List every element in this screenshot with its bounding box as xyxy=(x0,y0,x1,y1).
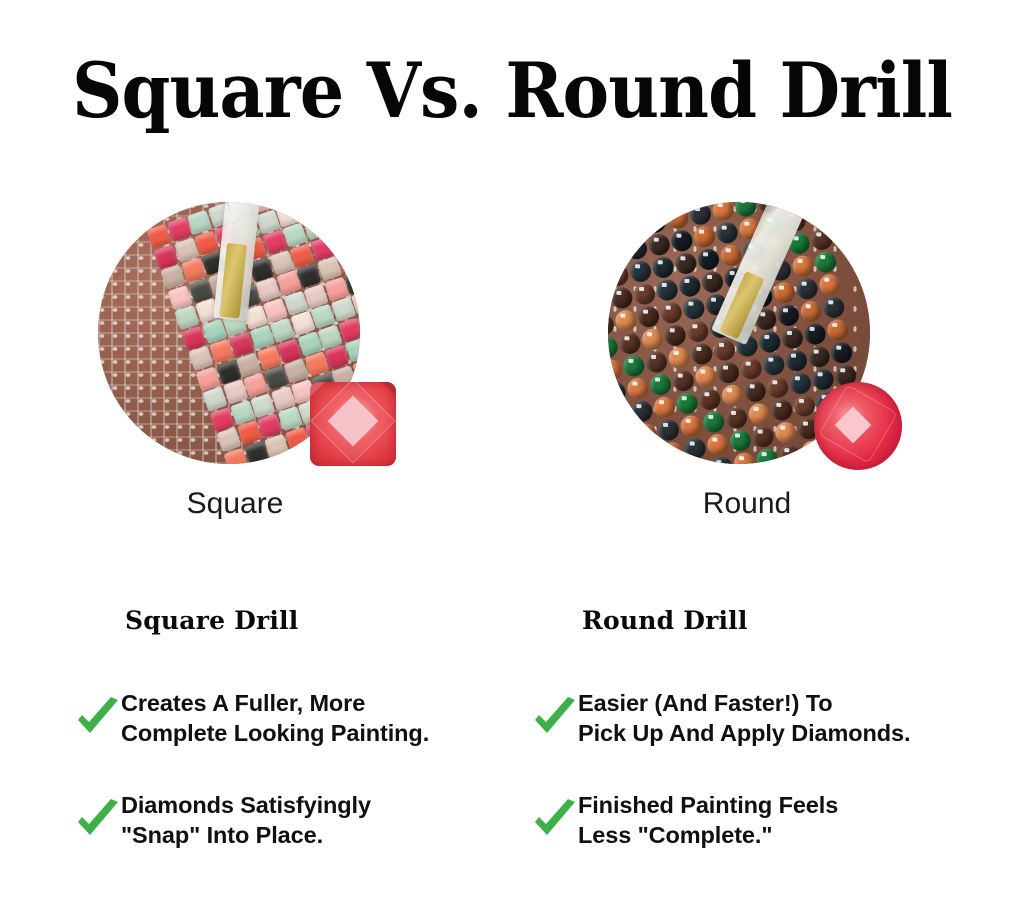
round-photo-panel xyxy=(608,200,908,470)
list-item: Easier (And Faster!) To Pick Up And Appl… xyxy=(532,688,962,748)
list-item: Diamonds Satisfyingly "Snap" Into Place. xyxy=(75,790,505,850)
list-item-label: Creates A Fuller, More Complete Looking … xyxy=(121,688,429,748)
comparison-images xyxy=(0,200,1024,470)
list-item-label: Finished Painting Feels Less "Complete." xyxy=(578,790,838,850)
round-drill-bullets: Easier (And Faster!) To Pick Up And Appl… xyxy=(532,688,962,850)
round-drill-heading: Round Drill xyxy=(532,606,962,636)
list-item-label: Easier (And Faster!) To Pick Up And Appl… xyxy=(578,688,910,748)
round-photo-caption: Round xyxy=(597,487,897,521)
pen-wax xyxy=(219,243,247,319)
square-drill-heading: Square Drill xyxy=(75,606,505,636)
check-icon xyxy=(75,797,121,843)
check-icon xyxy=(532,695,578,741)
round-gem xyxy=(814,382,902,470)
square-photo-caption: Square xyxy=(85,487,385,521)
square-photo-panel xyxy=(98,200,398,470)
list-item-label: Diamonds Satisfyingly "Snap" Into Place. xyxy=(121,790,371,850)
square-gem xyxy=(310,382,396,466)
list-item: Finished Painting Feels Less "Complete." xyxy=(532,790,962,850)
check-icon xyxy=(75,695,121,741)
list-item: Creates A Fuller, More Complete Looking … xyxy=(75,688,505,748)
square-drill-bullets: Creates A Fuller, More Complete Looking … xyxy=(75,688,505,850)
check-icon xyxy=(532,797,578,843)
square-drill-column: Square Drill Creates A Fuller, More Comp… xyxy=(75,606,505,892)
round-drill-column: Round Drill Easier (And Faster!) To Pick… xyxy=(532,606,962,892)
page-title: Square Vs. Round Drill xyxy=(41,46,983,136)
